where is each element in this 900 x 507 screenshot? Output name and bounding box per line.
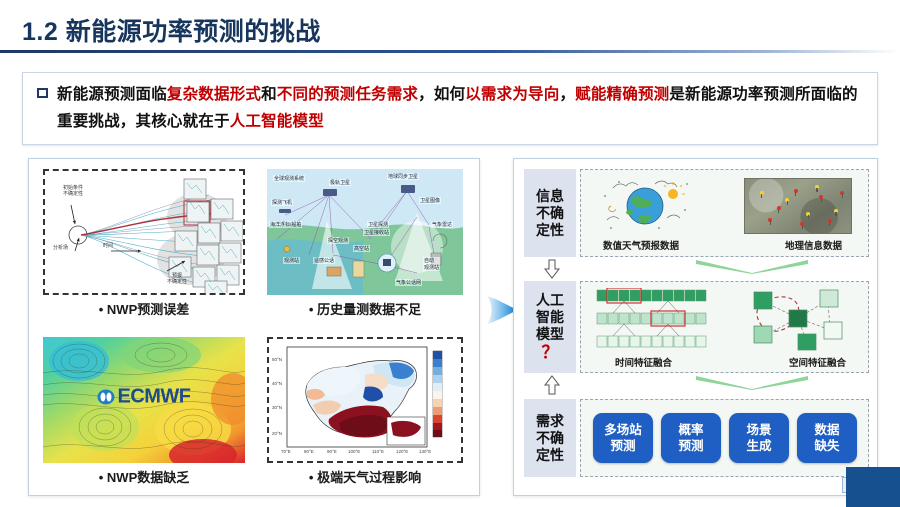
- map-pin: [794, 189, 798, 193]
- stage-label-ai-model: 人工 智能 模型 ？: [524, 281, 576, 373]
- stage-label-demand-uncertainty: 需求 不确 定性: [524, 399, 576, 477]
- down-arrow-icon: [542, 259, 562, 279]
- figure-nwp-error: 初始条件不确定性 分析场 时间 预报不确定性 • NWP预测误差: [43, 169, 245, 318]
- green-chevron-down-icon: [696, 376, 808, 390]
- geographic-info-map: [744, 178, 852, 234]
- body-text: 新能源预测面临: [57, 86, 167, 103]
- annotation-survey-aircraft: 探测飞机: [271, 199, 293, 206]
- annotation-geostationary-satellite: 地球同步卫星: [387, 173, 419, 180]
- spatial-fusion-diagram: [742, 286, 854, 352]
- ecmwf-map-figure: ECMWF: [43, 337, 245, 463]
- label-line: 信息: [536, 188, 564, 205]
- label-line: 模型: [536, 326, 564, 343]
- map-pin: [777, 206, 781, 210]
- label-line: 定性: [536, 447, 564, 464]
- caption-nwp-data: 数值天气预报数据: [603, 238, 679, 252]
- stage-body-information: 数值天气预报数据 地理信息数据: [580, 169, 869, 257]
- figure-caption: • 历史量测数据不足: [309, 299, 421, 318]
- annotation-weather-telephone-network: 气象公话网: [395, 279, 422, 286]
- pill-line: 数据: [814, 422, 839, 438]
- ecmwf-logo: ECMWF: [97, 386, 190, 409]
- challenges-panel: 初始条件不确定性 分析场 时间 预报不确定性 • NWP预测误差: [28, 158, 480, 496]
- annotation-satellite-receiver-station: 卫星接收站: [363, 229, 390, 236]
- ai-framework-panel: 信息 不确 定性: [513, 158, 878, 496]
- label-line: 不确: [536, 430, 564, 447]
- label-line: 不确: [536, 205, 564, 222]
- map-pin: [768, 218, 772, 222]
- x-tick-6: 130°E: [419, 449, 431, 454]
- caption-geo-data: 地理信息数据: [785, 238, 842, 252]
- x-tick-1: 80°E: [304, 449, 314, 454]
- annotation-initial-uncertainty: 初始条件不确定性: [63, 185, 83, 197]
- stage-information-uncertainty: 信息 不确 定性: [524, 169, 869, 257]
- globe-weather-icon: [597, 176, 693, 236]
- annotation-radiosonde: 探空观测: [327, 237, 349, 244]
- bullet-square-icon: [37, 88, 48, 98]
- body-text: ，: [559, 86, 575, 103]
- annotation-polar-satellite: 极轨卫星: [329, 179, 351, 186]
- annotation-satellite-image: 卫星图像: [419, 197, 441, 204]
- y-tick-3: 20°N: [272, 431, 282, 436]
- figure-observation-system: 全球观测系统 极轨卫星 地球同步卫星 卫星图像 探测飞机 海洋浮标/船舶 卫星探…: [267, 169, 463, 318]
- corner-block: [846, 467, 900, 507]
- y-tick-2: 30°N: [272, 405, 282, 410]
- key-message-text: 新能源预测面临复杂数据形式和不同的预测任务需求，如何以需求为导向，赋能精确预测是…: [57, 81, 869, 135]
- label-line: 智能: [536, 309, 564, 326]
- emphasis-text: 不同的预测任务需求: [277, 86, 418, 103]
- stage-ai-model: 人工 智能 模型 ？: [524, 281, 869, 373]
- x-tick-2: 90°E: [327, 449, 337, 454]
- emphasis-text: 复杂数据形式: [167, 86, 261, 103]
- figure-caption: • NWP数据缺乏: [99, 467, 190, 486]
- nwp-error-figure: 初始条件不确定性 分析场 时间 预报不确定性: [43, 169, 245, 295]
- label-line: 需求: [536, 413, 564, 430]
- annotation-ocean-station: 观测站: [283, 257, 300, 264]
- annotation-automatic-station: 自动观测站: [423, 257, 440, 271]
- label-line: 人工: [536, 292, 564, 309]
- map-pin: [834, 209, 838, 213]
- map-pin: [840, 191, 844, 195]
- x-tick-5: 120°E: [396, 449, 408, 454]
- map-pin: [785, 198, 789, 202]
- x-tick-3: 100°E: [348, 449, 360, 454]
- annotation-ocean-buoy-ship: 海洋浮标/船舶: [269, 221, 302, 228]
- caption-spatial-fusion: 空间特征融合: [789, 355, 846, 369]
- question-mark: ？: [542, 343, 559, 362]
- stage-demand-uncertainty: 需求 不确 定性 多场站 预测 概率 预测 场景 生成 数据 缺失: [524, 399, 869, 477]
- emphasis-text: 赋能精确预测: [575, 86, 669, 103]
- x-tick-0: 70°E: [281, 449, 291, 454]
- pill-line: 场景: [746, 422, 771, 438]
- up-arrow-icon: [542, 375, 562, 395]
- annotation-time-axis: 时间: [103, 243, 113, 249]
- emphasis-text: 人工智能模型: [230, 113, 324, 130]
- y-tick-0: 50°N: [272, 357, 282, 362]
- map-pin: [800, 222, 804, 226]
- x-tick-4: 110°E: [372, 449, 384, 454]
- observation-system-figure: 全球观测系统 极轨卫星 地球同步卫星 卫星图像 探测飞机 海洋浮标/船舶 卫星探…: [267, 169, 463, 295]
- task-pill-scenario[interactable]: 场景 生成: [729, 413, 789, 463]
- annotation-remote-telephone: 遥感公话: [313, 257, 335, 264]
- figure-caption: • NWP预测误差: [99, 299, 190, 318]
- map-pin: [819, 195, 823, 199]
- stage-body-demand: 多场站 预测 概率 预测 场景 生成 数据 缺失: [580, 399, 869, 477]
- map-pin: [806, 212, 810, 216]
- map-pin: [760, 191, 764, 195]
- figure-caption: • 极端天气过程影响: [309, 467, 421, 486]
- body-text: 和: [261, 86, 277, 103]
- stage-label-information-uncertainty: 信息 不确 定性: [524, 169, 576, 257]
- map-pin: [828, 219, 832, 223]
- china-anomaly-svg: [269, 339, 463, 463]
- emphasis-text: 以需求为导向: [465, 86, 559, 103]
- task-pill-missing-data[interactable]: 数据 缺失: [797, 413, 857, 463]
- china-anomaly-figure: 50°N 40°N 30°N 20°N 70°E 80°E 90°E 100°E…: [267, 337, 463, 463]
- y-tick-1: 40°N: [272, 381, 282, 386]
- body-text: ，如何: [418, 86, 465, 103]
- stage-body-model: 时间特征融合: [580, 281, 869, 373]
- pill-line: 预测: [610, 438, 635, 454]
- annotation-weather-radar: 气象雷达: [431, 221, 453, 228]
- task-pill-multi-site[interactable]: 多场站 预测: [593, 413, 653, 463]
- annotation-analysis-field: 分析场: [53, 245, 68, 251]
- annotation-upper-air-station: 高空站: [353, 245, 370, 252]
- figure-ecmwf-map: ECMWF • NWP数据缺乏: [43, 337, 245, 486]
- temporal-fusion-diagram: [595, 288, 717, 352]
- pill-line: 概率: [678, 422, 703, 438]
- label-line: 定性: [536, 222, 564, 239]
- pill-line: 预测: [678, 438, 703, 454]
- map-pin: [815, 185, 819, 189]
- pill-line: 生成: [746, 438, 771, 454]
- pill-line: 多场站: [604, 422, 642, 438]
- green-chevron-down-icon: [696, 260, 808, 274]
- page-title: 1.2 新能源功率预测的挑战: [22, 12, 321, 48]
- key-message-box: 新能源预测面临复杂数据形式和不同的预测任务需求，如何以需求为导向，赋能精确预测是…: [22, 72, 878, 145]
- ecmwf-wordmark: ECMWF: [117, 386, 190, 409]
- annotation-global-observation-system: 全球观测系统: [273, 175, 305, 182]
- annotation-forecast-uncertainty: 预报不确定性: [167, 273, 187, 285]
- figure-china-extreme-weather: 50°N 40°N 30°N 20°N 70°E 80°E 90°E 100°E…: [267, 337, 463, 486]
- ecmwf-mark-icon: [97, 390, 114, 405]
- caption-temporal-fusion: 时间特征融合: [615, 355, 672, 369]
- title-divider: [0, 50, 900, 53]
- task-pill-probabilistic[interactable]: 概率 预测: [661, 413, 721, 463]
- pill-line: 缺失: [814, 438, 839, 454]
- annotation-satellite-sounding: 卫星探测: [367, 221, 389, 228]
